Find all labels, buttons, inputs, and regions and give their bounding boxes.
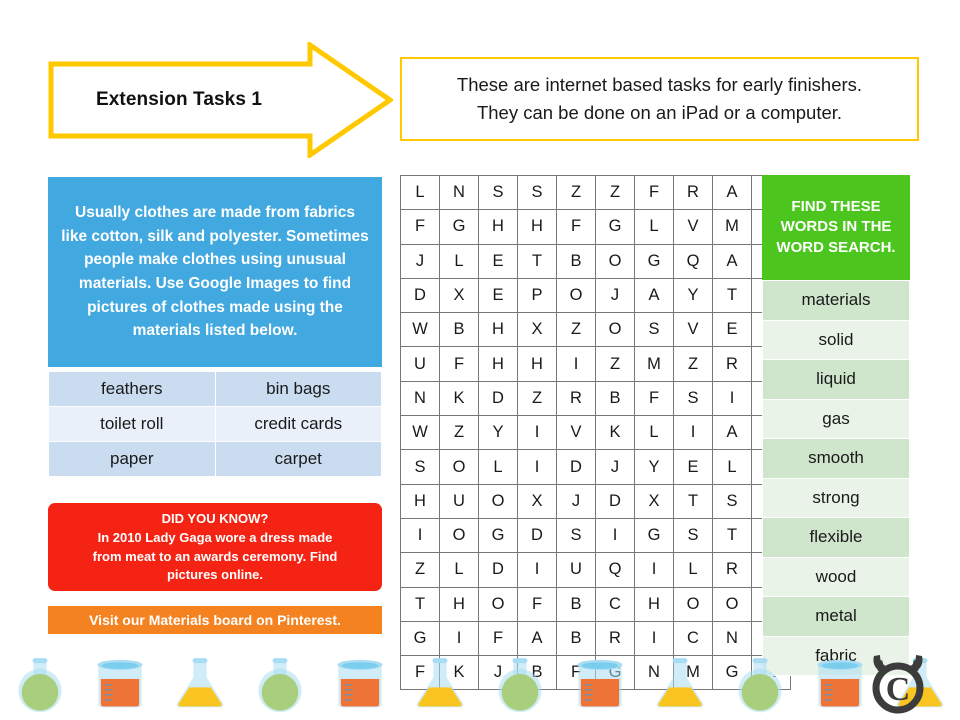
round-flask-icon (240, 648, 320, 720)
word-search-cell[interactable]: B (596, 381, 635, 415)
clothes-materials-instructions-panel: Usually clothes are made from fabrics li… (48, 177, 382, 367)
word-search-cell[interactable]: A (713, 416, 752, 450)
word-search-cell[interactable]: L (635, 210, 674, 244)
word-search-cell[interactable]: S (518, 176, 557, 210)
word-search-cell[interactable]: Y (674, 278, 713, 312)
word-search-cell[interactable]: I (518, 450, 557, 484)
word-search-cell[interactable]: R (713, 553, 752, 587)
word-search-cell[interactable]: F (557, 210, 596, 244)
word-search-cell[interactable]: Y (479, 416, 518, 450)
word-search-cell[interactable]: Z (557, 176, 596, 210)
word-search-cell[interactable]: O (440, 518, 479, 552)
word-search-cell[interactable]: B (557, 244, 596, 278)
word-list-label: solid (763, 320, 910, 360)
logo-shape-icon: C (862, 650, 934, 716)
word-list-item: gas (763, 399, 910, 439)
word-search-cell[interactable]: V (674, 313, 713, 347)
word-list-label: strong (763, 478, 910, 518)
word-search-cell[interactable]: I (635, 553, 674, 587)
word-search-cell[interactable]: A (713, 244, 752, 278)
fact-box-title: DID YOU KNOW? (162, 510, 269, 528)
pinterest-link-bar[interactable]: Visit our Materials board on Pinterest. (48, 606, 382, 634)
intro-instructions-box: These are internet based tasks for early… (400, 57, 919, 141)
word-search-row: WBHXZOSVEM (401, 313, 791, 347)
word-search-cell[interactable]: U (440, 484, 479, 518)
word-search-cell[interactable]: M (713, 210, 752, 244)
word-search-cell[interactable]: O (440, 450, 479, 484)
fact-box-line-2: from meat to an awards ceremony. Find (93, 548, 338, 566)
word-search-cell[interactable]: S (713, 484, 752, 518)
word-search-cell[interactable]: G (635, 244, 674, 278)
word-search-cell[interactable]: V (674, 210, 713, 244)
word-search-cell[interactable]: X (635, 484, 674, 518)
fact-box-line-3: pictures online. (167, 566, 263, 584)
word-search-cell[interactable]: Q (674, 244, 713, 278)
word-search-cell[interactable]: X (440, 278, 479, 312)
word-list-item: solid (763, 320, 910, 360)
word-search-row: ZLDIUQILRL (401, 553, 791, 587)
word-search-cell[interactable]: D (401, 278, 440, 312)
material-cell: credit cards (215, 407, 382, 442)
round-flask-icon (0, 648, 80, 720)
word-search-row: DXEPOJAYTG (401, 278, 791, 312)
word-list-label: smooth (763, 439, 910, 479)
svg-text:C: C (886, 671, 911, 708)
word-search-cell[interactable]: E (674, 450, 713, 484)
beaker-icon (560, 648, 640, 720)
word-search-row: FGHHFGLVMM (401, 210, 791, 244)
word-search-row: SOLIDJYELE (401, 450, 791, 484)
word-search-cell[interactable]: I (518, 416, 557, 450)
word-search-cell[interactable]: X (518, 313, 557, 347)
word-search-cell[interactable]: G (440, 210, 479, 244)
laboratory-glassware-border (0, 648, 960, 720)
material-cell: feathers (49, 372, 216, 407)
word-search-cell[interactable]: T (713, 518, 752, 552)
word-list-label: flexible (763, 518, 910, 558)
word-search-cell[interactable]: R (674, 176, 713, 210)
word-list-item: materials (763, 281, 910, 321)
word-search-cell[interactable]: S (401, 450, 440, 484)
word-search-cell[interactable]: O (479, 587, 518, 621)
antlered-copyright-logo-icon: C (862, 650, 934, 716)
conical-flask-icon (640, 648, 720, 720)
word-search-cell[interactable]: Z (401, 553, 440, 587)
word-search-cell[interactable]: L (479, 450, 518, 484)
beaker-icon (80, 648, 160, 720)
word-search-cell[interactable]: T (518, 244, 557, 278)
beaker-icon (80, 648, 160, 720)
word-search-cell[interactable]: H (518, 210, 557, 244)
conical-flask-icon (400, 648, 480, 720)
round-flask-icon (0, 648, 80, 720)
word-search-cell[interactable]: S (635, 313, 674, 347)
extension-tasks-arrow-banner: Extension Tasks 1 (48, 42, 393, 158)
word-search-cell[interactable]: I (401, 518, 440, 552)
word-search-cell[interactable]: A (713, 176, 752, 210)
word-search-cell[interactable]: T (674, 484, 713, 518)
word-search-cell[interactable]: L (674, 553, 713, 587)
word-search-cell[interactable]: I (557, 347, 596, 381)
word-search-cell[interactable]: O (674, 587, 713, 621)
word-search-row: IOGDSIGSTA (401, 518, 791, 552)
word-search-cell[interactable]: V (557, 416, 596, 450)
word-search-cell[interactable]: F (635, 176, 674, 210)
word-search-cell[interactable]: E (713, 313, 752, 347)
word-search-cell[interactable]: Y (635, 450, 674, 484)
word-search-cell[interactable]: K (440, 381, 479, 415)
word-search-cell[interactable]: H (479, 210, 518, 244)
word-search-cell[interactable]: Z (674, 347, 713, 381)
word-search-cell[interactable]: O (713, 587, 752, 621)
word-list-item: wood (763, 557, 910, 597)
word-search-cell[interactable]: F (635, 381, 674, 415)
word-search-row: UFHHIZMZRO (401, 347, 791, 381)
word-list-item: flexible (763, 518, 910, 558)
word-search-cell[interactable]: F (518, 587, 557, 621)
word-search-cell[interactable]: D (479, 553, 518, 587)
word-search-cell[interactable]: J (401, 244, 440, 278)
word-search-cell[interactable]: L (635, 416, 674, 450)
round-flask-icon (720, 648, 800, 720)
word-search-cell[interactable]: H (479, 313, 518, 347)
word-search-cell[interactable]: U (401, 347, 440, 381)
word-list-label: gas (763, 399, 910, 439)
word-search-cell[interactable]: A (635, 278, 674, 312)
word-list-label: materials (763, 281, 910, 321)
word-search-row: THOFBCHOOS (401, 587, 791, 621)
word-search-grid[interactable]: LNSSZZFRAHFGHHFGLVMMJLETBOGQAYDXEPOJAYTG… (400, 175, 791, 690)
word-search-cell[interactable]: W (401, 416, 440, 450)
pinterest-bar-label: Visit our Materials board on Pinterest. (89, 612, 341, 628)
word-list-item: strong (763, 478, 910, 518)
word-search-cell[interactable]: N (401, 381, 440, 415)
word-search-cell[interactable]: N (440, 176, 479, 210)
table-row: feathers bin bags (49, 372, 382, 407)
word-search-cell[interactable]: H (401, 484, 440, 518)
material-cell: bin bags (215, 372, 382, 407)
word-list-header: FIND THESE WORDS IN THE WORD SEARCH. (762, 175, 910, 280)
word-search-cell[interactable]: S (674, 518, 713, 552)
word-list-item: metal (763, 597, 910, 637)
word-search-cell[interactable]: D (596, 484, 635, 518)
word-search-cell[interactable]: O (596, 313, 635, 347)
material-cell: paper (49, 442, 216, 477)
conical-flask-icon (160, 648, 240, 720)
intro-line-2: They can be done on an iPad or a compute… (477, 99, 842, 127)
word-search-cell[interactable]: R (557, 381, 596, 415)
word-search-cell[interactable]: E (479, 244, 518, 278)
word-search-cell[interactable]: P (518, 278, 557, 312)
word-search-cell[interactable]: S (479, 176, 518, 210)
round-flask-icon (480, 648, 560, 720)
word-search-cell[interactable]: B (557, 587, 596, 621)
word-search-cell[interactable]: H (635, 587, 674, 621)
word-search-cell[interactable]: C (596, 587, 635, 621)
round-flask-icon (480, 648, 560, 720)
word-search-cell[interactable]: S (557, 518, 596, 552)
conical-flask-icon (160, 648, 240, 720)
word-list-label: metal (763, 597, 910, 637)
word-search-cell[interactable]: H (479, 347, 518, 381)
beaker-icon (320, 648, 400, 720)
page-title: Extension Tasks 1 (48, 42, 310, 158)
table-row: toilet roll credit cards (49, 407, 382, 442)
table-row: paper carpet (49, 442, 382, 477)
word-search-cell[interactable]: T (713, 278, 752, 312)
word-search-row: JLETBOGQAY (401, 244, 791, 278)
word-search-cell[interactable]: L (401, 176, 440, 210)
word-search-cell[interactable]: T (401, 587, 440, 621)
word-list-label: liquid (763, 360, 910, 400)
word-search-cell[interactable]: I (596, 518, 635, 552)
word-search-cell[interactable]: E (479, 278, 518, 312)
word-search-row: WZYIVKLIAM (401, 416, 791, 450)
word-search-cell[interactable]: G (479, 518, 518, 552)
word-search-cell[interactable]: D (557, 450, 596, 484)
word-search-cell[interactable]: D (518, 518, 557, 552)
word-search-cell[interactable]: F (401, 210, 440, 244)
word-search-cell[interactable]: R (713, 347, 752, 381)
beaker-icon (560, 648, 640, 720)
word-search-cell[interactable]: J (596, 278, 635, 312)
word-search-cell[interactable]: H (440, 587, 479, 621)
word-search-cell[interactable]: I (518, 553, 557, 587)
word-search-cell[interactable]: I (674, 416, 713, 450)
word-search-cell[interactable]: Z (596, 176, 635, 210)
word-search-cell[interactable]: F (440, 347, 479, 381)
word-search-row: LNSSZZFRAH (401, 176, 791, 210)
word-search-cell[interactable]: U (557, 553, 596, 587)
word-search-cell[interactable]: W (401, 313, 440, 347)
word-search-cell[interactable]: O (557, 278, 596, 312)
word-search-cell[interactable]: M (635, 347, 674, 381)
word-search-cell[interactable]: H (518, 347, 557, 381)
word-list-item: smooth (763, 439, 910, 479)
word-search-cell[interactable]: L (713, 450, 752, 484)
word-search-cell[interactable]: G (596, 210, 635, 244)
word-search-cell[interactable]: X (518, 484, 557, 518)
unusual-materials-table: feathers bin bags toilet roll credit car… (48, 371, 382, 477)
word-search-cell[interactable]: J (557, 484, 596, 518)
word-search-cell[interactable]: K (596, 416, 635, 450)
round-flask-icon (720, 648, 800, 720)
word-list-label: wood (763, 557, 910, 597)
word-search-cell[interactable]: Z (440, 416, 479, 450)
word-search-row: NKDZRBFSIT (401, 381, 791, 415)
word-list-panel: FIND THESE WORDS IN THE WORD SEARCH. mat… (762, 175, 910, 645)
material-cell: toilet roll (49, 407, 216, 442)
word-search-cell[interactable]: I (713, 381, 752, 415)
word-search-cell[interactable]: Z (596, 347, 635, 381)
word-search-cell[interactable]: G (635, 518, 674, 552)
round-flask-icon (240, 648, 320, 720)
did-you-know-box: DID YOU KNOW? In 2010 Lady Gaga wore a d… (48, 503, 382, 591)
word-search-cell[interactable]: J (596, 450, 635, 484)
word-search-cell[interactable]: Q (596, 553, 635, 587)
word-search-cell[interactable]: Z (557, 313, 596, 347)
word-search-cell[interactable]: B (440, 313, 479, 347)
word-list-table: materialssolidliquidgassmoothstrongflexi… (762, 280, 910, 676)
intro-line-1: These are internet based tasks for early… (457, 71, 862, 99)
word-search-cell[interactable]: Z (518, 381, 557, 415)
word-search-cell[interactable]: L (440, 244, 479, 278)
fact-box-line-1: In 2010 Lady Gaga wore a dress made (98, 529, 333, 547)
blue-panel-text: Usually clothes are made from fabrics li… (60, 201, 370, 342)
word-search-cell[interactable]: O (479, 484, 518, 518)
word-search-cell[interactable]: S (674, 381, 713, 415)
word-search-cell[interactable]: L (440, 553, 479, 587)
material-cell: carpet (215, 442, 382, 477)
word-search-row: HUOXJDXTST (401, 484, 791, 518)
conical-flask-icon (640, 648, 720, 720)
beaker-icon (320, 648, 400, 720)
conical-flask-icon (400, 648, 480, 720)
word-search-cell[interactable]: O (596, 244, 635, 278)
word-search-cell[interactable]: D (479, 381, 518, 415)
word-list-item: liquid (763, 360, 910, 400)
